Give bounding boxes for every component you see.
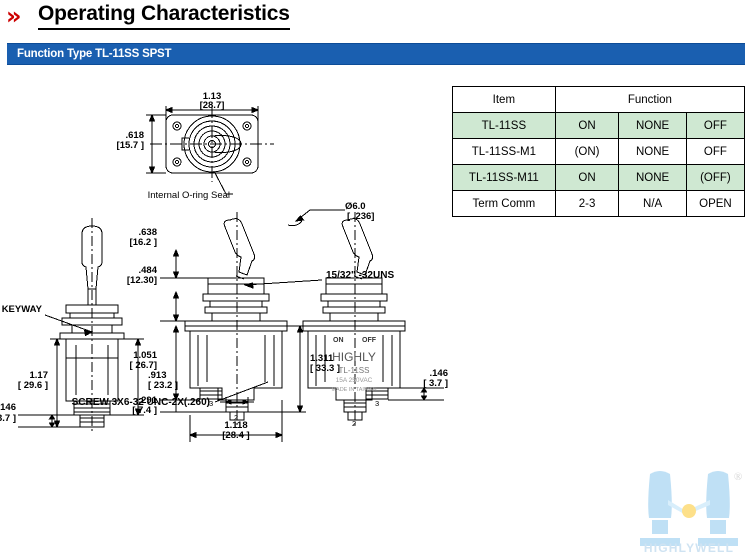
cell-pos3: OFF — [686, 139, 744, 165]
label-keyway: KEYWAY — [2, 304, 43, 315]
dim-center-638-mm: [16.2 ] — [130, 237, 157, 248]
watermark-figures — [640, 471, 738, 546]
marking-brand: HIGHLY — [332, 350, 376, 364]
dim-top-height-mm: [15.7 ] — [117, 140, 144, 151]
table-header-item: Item — [453, 87, 556, 113]
datasheet-page: » Operating Characteristics Function Typ… — [0, 0, 750, 556]
table-row: TL-11SS-M1 (ON) NONE OFF — [453, 139, 745, 165]
dim-left-146-in: .146 — [0, 402, 16, 413]
double-chevron-right-icon: » — [6, 3, 19, 29]
cell-pos3: OPEN — [686, 191, 744, 217]
thread-note-leader — [245, 280, 322, 288]
note-oring-seal: Internal O-ring Seal — [148, 190, 230, 201]
technical-drawing-area: 1.13 [28.7] .618 [15.7 ] Ø6.0 [ .236] KE… — [0, 70, 452, 450]
page-header: » Operating Characteristics — [0, 0, 750, 36]
cell-pos1: ON — [555, 165, 619, 191]
marking-rating: 15A 250VAC — [336, 377, 373, 384]
marking-origin: MADE IN TAIWAN — [331, 387, 376, 393]
table-row: Term Comm 2-3 N/A OPEN — [453, 191, 745, 217]
terminal-number-2: 2 — [234, 413, 238, 422]
cell-pos1: (ON) — [555, 139, 619, 165]
dim-center-291-mm: [ 7.4 ] — [132, 405, 157, 416]
table-header-function: Function — [555, 87, 744, 113]
note-thread: 15/32" -32UNS — [326, 270, 394, 281]
highlywell-watermark: ® HIGHLYWELL — [630, 468, 748, 554]
function-table: Item Function TL-11SS ON NONE OFF TL-11S… — [452, 86, 745, 217]
center-view-dim-1311 — [248, 326, 306, 412]
cell-pos2: N/A — [619, 191, 686, 217]
screw-note-leader — [215, 382, 268, 402]
terminal-number-3: 3 — [209, 399, 213, 408]
terminal-number-3: 3 — [375, 399, 379, 408]
dim-center-1118-mm: [28.4 ] — [222, 430, 249, 441]
cell-item: TL-11SS-M1 — [453, 139, 556, 165]
top-view-drawing — [150, 106, 274, 182]
cell-pos2: NONE — [619, 113, 686, 139]
cell-pos2: NONE — [619, 165, 686, 191]
dim-right-146-mm: [ 3.7 ] — [423, 378, 448, 389]
cell-pos3: OFF — [686, 113, 744, 139]
page-title: Operating Characteristics — [38, 1, 290, 30]
cell-pos1: 2-3 — [555, 191, 619, 217]
cell-item: TL-11SS-M11 — [453, 165, 556, 191]
registered-mark-icon: ® — [734, 471, 742, 483]
watermark-text: HIGHLYWELL — [644, 541, 734, 554]
section-band: Function Type TL-11SS SPST — [7, 43, 745, 65]
dim-lever-dia-in: [ .236] — [347, 211, 374, 222]
center-front-view-drawing — [185, 212, 287, 428]
cell-pos1: ON — [555, 113, 619, 139]
terminal-number-2: 2 — [352, 419, 356, 428]
table-row: TL-11SS-M11 ON NONE (OFF) — [453, 165, 745, 191]
dim-left-146-mm: [ 3.7 ] — [0, 413, 16, 424]
cell-item: Term Comm — [453, 191, 556, 217]
dim-center-1051-mm: [ 26.7] — [130, 360, 157, 371]
left-view-dim-146 — [18, 415, 80, 427]
cell-item: TL-11SS — [453, 113, 556, 139]
dim-center-1311-mm: [ 33.3 ] — [310, 363, 340, 374]
marking-on: ON — [333, 337, 344, 344]
center-view-dim-484 — [160, 250, 208, 278]
dim-left-117-mm: [ 29.6 ] — [18, 380, 48, 391]
right-view-dim-146 — [388, 388, 444, 400]
lever-dia-leader — [288, 210, 345, 226]
dim-left-913-mm: [ 23.2 ] — [148, 380, 178, 391]
table-row: TL-11SS ON NONE OFF — [453, 113, 745, 139]
marking-off: OFF — [362, 337, 377, 344]
center-view-dim-638 — [160, 292, 203, 321]
section-band-label: Function Type TL-11SS SPST — [17, 46, 171, 62]
table-header-row: Item Function — [453, 87, 745, 113]
watermark-dot — [682, 504, 696, 518]
cell-pos3: (OFF) — [686, 165, 744, 191]
dim-center-484-mm: [12.30] — [127, 275, 157, 286]
cell-pos2: NONE — [619, 139, 686, 165]
right-side-view-drawing — [303, 212, 405, 428]
dim-top-width-mm: [28.7] — [200, 100, 225, 111]
marking-model: TL-11SS — [339, 366, 370, 375]
